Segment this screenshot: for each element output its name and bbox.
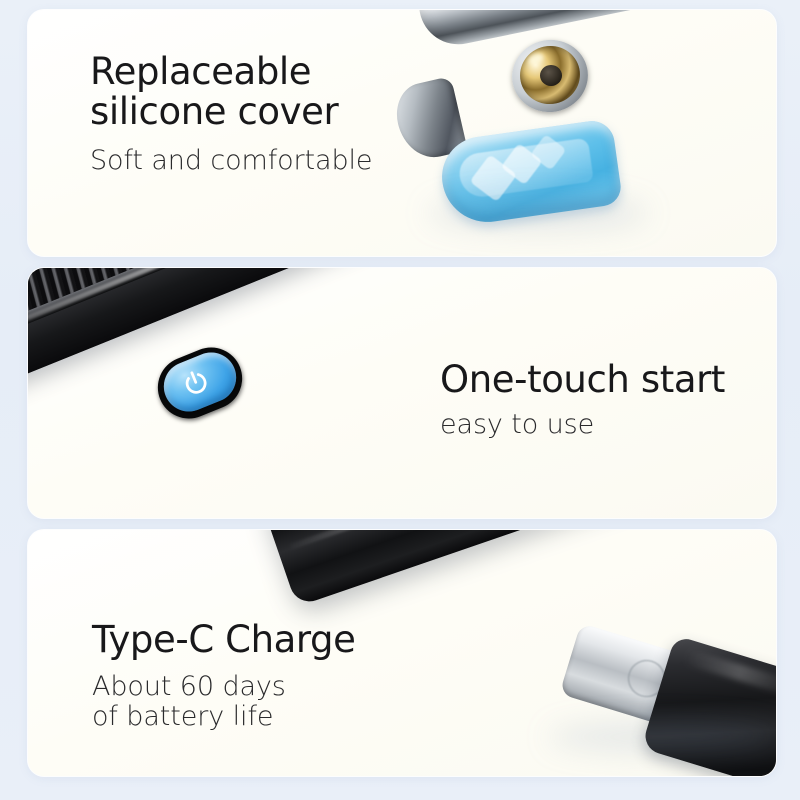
panel-1-text-block: Replaceable silicone cover Soft and comf… (90, 52, 372, 176)
lens-core (540, 65, 562, 86)
panel-2-subtitle: easy to use (440, 410, 725, 440)
cover-drop-shadow (428, 196, 648, 230)
panel-3-text-block: Type-C Charge About 60 days of battery l… (92, 620, 356, 732)
connector-drop-shadow (548, 722, 776, 752)
panel-3-subtitle: About 60 days of battery life (92, 672, 356, 732)
device-end-body (259, 530, 695, 607)
panel-1-title: Replaceable silicone cover (90, 52, 372, 132)
panel-3-title: Type-C Charge (92, 620, 356, 660)
body-gloss (289, 530, 644, 550)
panel-1-subtitle: Soft and comfortable (90, 146, 372, 176)
panel-2-text-block: One-touch start easy to use (440, 360, 725, 440)
chrome-shaft (412, 10, 776, 51)
product-feature-infographic: Replaceable silicone cover Soft and comf… (0, 0, 800, 800)
panel-2-title: One-touch start (440, 360, 725, 400)
